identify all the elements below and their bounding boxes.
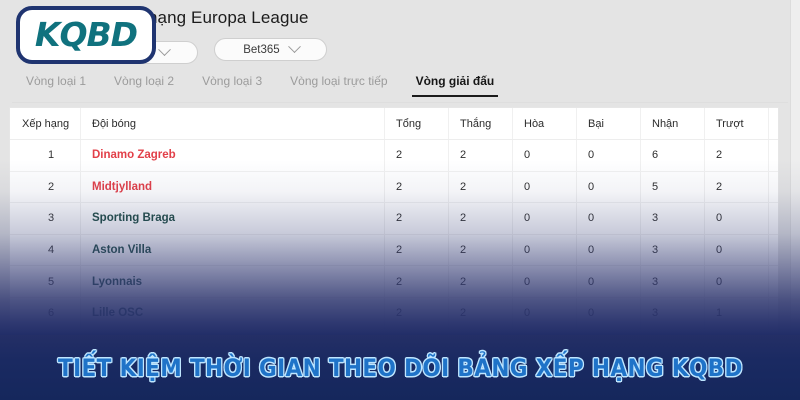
table-row[interactable]: 6 Lille OSC 2 2 0 0 3 1 2 6 <box>10 297 778 328</box>
standings-table: Xếp hạng Đội bóng Tổng Thắng Hòa Bại Nhậ… <box>10 108 778 329</box>
row-win: 2 <box>448 140 512 172</box>
chevron-down-icon <box>288 40 301 53</box>
row-goals-for: 3 <box>640 234 704 266</box>
row-goals-against: 2 <box>704 171 768 203</box>
col-header-win[interactable]: Thắng <box>448 108 512 140</box>
col-header-played[interactable]: Tổng <box>384 108 448 140</box>
row-draw: 0 <box>512 266 576 298</box>
row-goal-diff: 2 <box>768 297 778 328</box>
row-loss: 0 <box>576 203 640 235</box>
row-team-name[interactable]: Midtjylland <box>92 181 152 193</box>
row-goal-diff: 4 <box>768 140 778 172</box>
row-draw: 0 <box>512 297 576 328</box>
row-draw: 0 <box>512 171 576 203</box>
row-draw: 0 <box>512 234 576 266</box>
row-rank: 1 <box>48 149 54 161</box>
row-team-name[interactable]: Lille OSC <box>92 307 143 319</box>
row-loss: 0 <box>576 140 640 172</box>
row-played: 2 <box>384 203 448 235</box>
row-rank: 3 <box>48 212 54 224</box>
kqbd-logo-text: KQBD <box>35 18 137 51</box>
table-header-row: Xếp hạng Đội bóng Tổng Thắng Hòa Bại Nhậ… <box>10 108 778 140</box>
row-goals-for: 3 <box>640 266 704 298</box>
row-draw: 0 <box>512 203 576 235</box>
row-draw: 0 <box>512 140 576 172</box>
row-goals-against: 0 <box>704 266 768 298</box>
promo-banner: TIẾT KIỆM THỜI GIAN THEO DÕI BẢNG XẾP HẠ… <box>0 335 800 400</box>
row-rank: 5 <box>48 276 54 288</box>
row-goals-for: 6 <box>640 140 704 172</box>
col-header-gf[interactable]: Nhận <box>640 108 704 140</box>
row-goals-against: 1 <box>704 297 768 328</box>
row-goal-diff: 3 <box>768 266 778 298</box>
row-played: 2 <box>384 234 448 266</box>
row-loss: 0 <box>576 297 640 328</box>
col-header-team[interactable]: Đội bóng <box>80 108 384 140</box>
page-root: hạng Europa League Bet365 Vòng loại 1 Vò… <box>0 0 800 400</box>
tab-vong-loai-1[interactable]: Vòng loại 1 <box>12 72 100 96</box>
table-row[interactable]: 5 Lyonnais 2 2 0 0 3 0 3 6 <box>10 266 778 298</box>
row-win: 2 <box>448 203 512 235</box>
row-team-name[interactable]: Sporting Braga <box>92 212 175 224</box>
round-tabs: Vòng loại 1 Vòng loại 2 Vòng loại 3 Vòng… <box>12 72 788 103</box>
row-goal-diff: 3 <box>768 203 778 235</box>
row-win: 2 <box>448 266 512 298</box>
row-played: 2 <box>384 266 448 298</box>
tab-vong-loai-2[interactable]: Vòng loại 2 <box>100 72 188 96</box>
tab-vong-loai-truc-tiep[interactable]: Vòng loại trực tiếp <box>276 72 401 96</box>
row-goals-for: 3 <box>640 297 704 328</box>
row-loss: 0 <box>576 266 640 298</box>
col-header-loss[interactable]: Bại <box>576 108 640 140</box>
row-played: 2 <box>384 140 448 172</box>
table-row[interactable]: 1 Dinamo Zagreb 2 2 0 0 6 2 4 6 <box>10 140 778 172</box>
row-goals-against: 0 <box>704 203 768 235</box>
table-row[interactable]: 3 Sporting Braga 2 2 0 0 3 0 3 6 <box>10 203 778 235</box>
row-win: 2 <box>448 297 512 328</box>
row-played: 2 <box>384 297 448 328</box>
promo-banner-text: TIẾT KIỆM THỜI GIAN THEO DÕI BẢNG XẾP HẠ… <box>58 354 743 382</box>
row-rank: 4 <box>48 244 54 256</box>
row-loss: 0 <box>576 234 640 266</box>
row-win: 2 <box>448 171 512 203</box>
row-goal-diff: 3 <box>768 234 778 266</box>
row-team-name[interactable]: Aston Villa <box>92 244 151 256</box>
table-row[interactable]: 4 Aston Villa 2 2 0 0 3 0 3 6 <box>10 234 778 266</box>
row-goals-against: 0 <box>704 234 768 266</box>
row-goals-for: 5 <box>640 171 704 203</box>
row-goal-diff: 3 <box>768 171 778 203</box>
standings-table-card: Xếp hạng Đội bóng Tổng Thắng Hòa Bại Nhậ… <box>10 108 778 335</box>
chevron-down-icon <box>158 43 171 56</box>
col-header-draw[interactable]: Hòa <box>512 108 576 140</box>
row-rank: 2 <box>48 181 54 193</box>
tab-vong-giai-dau[interactable]: Vòng giải đấu <box>402 72 509 96</box>
row-team-name[interactable]: Lyonnais <box>92 276 142 288</box>
table-row[interactable]: 2 Midtjylland 2 2 0 0 5 2 3 6 <box>10 171 778 203</box>
tab-vong-loai-3[interactable]: Vòng loại 3 <box>188 72 276 96</box>
page-title: hạng Europa League <box>148 8 309 28</box>
col-header-rank[interactable]: Xếp hạng <box>10 108 80 140</box>
col-header-ga[interactable]: Trượt <box>704 108 768 140</box>
bookmaker-select-label: Bet365 <box>243 44 279 56</box>
row-goals-against: 2 <box>704 140 768 172</box>
standings-table-body: 1 Dinamo Zagreb 2 2 0 0 6 2 4 6 2 Midtjy… <box>10 140 778 329</box>
row-rank: 6 <box>48 307 54 319</box>
row-team-name[interactable]: Dinamo Zagreb <box>92 149 176 161</box>
kqbd-logo[interactable]: KQBD <box>16 6 156 64</box>
row-loss: 0 <box>576 171 640 203</box>
row-win: 2 <box>448 234 512 266</box>
row-goals-for: 3 <box>640 203 704 235</box>
row-played: 2 <box>384 171 448 203</box>
bookmaker-select[interactable]: Bet365 <box>214 38 327 61</box>
col-header-gd[interactable]: Hiệu số <box>768 108 778 140</box>
